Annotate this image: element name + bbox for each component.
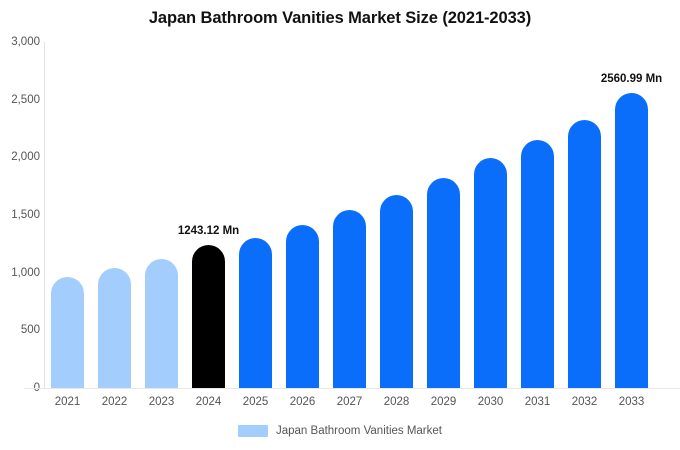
bar-2029[interactable] bbox=[427, 178, 460, 388]
legend-label-japan-bathroom-vanities-market: Japan Bathroom Vanities Market bbox=[276, 425, 442, 437]
chart-title: Japan Bathroom Vanities Market Size (202… bbox=[0, 9, 680, 28]
y-axis: 3,0002,5002,0001,5001,0005000 bbox=[0, 0, 40, 450]
y-axis-tick-label: 2,000 bbox=[4, 151, 40, 163]
y-axis-tick-label: 1,500 bbox=[4, 209, 40, 221]
bar-2026[interactable] bbox=[286, 225, 319, 388]
bar-group-2025[interactable] bbox=[239, 42, 272, 388]
x-axis-tick-label-2032: 2032 bbox=[560, 396, 610, 408]
x-axis-tick-label-2029: 2029 bbox=[419, 396, 469, 408]
bar-2031[interactable] bbox=[521, 140, 554, 388]
bar-value-label-2033: 2560.99 Mn bbox=[596, 73, 668, 85]
x-axis-tick-label-2030: 2030 bbox=[466, 396, 516, 408]
x-axis-tick-label-2033: 2033 bbox=[607, 396, 657, 408]
bar-group-2026[interactable] bbox=[286, 42, 319, 388]
bar-chart: Japan Bathroom Vanities Market Size (202… bbox=[0, 0, 680, 450]
bar-2025[interactable] bbox=[239, 238, 272, 388]
x-axis-tick-label-2021: 2021 bbox=[43, 396, 93, 408]
bar-2032[interactable] bbox=[568, 120, 601, 388]
y-axis-tick-label: 2,500 bbox=[4, 94, 40, 106]
x-axis-tick-label-2022: 2022 bbox=[90, 396, 140, 408]
x-axis-tick-label-2028: 2028 bbox=[372, 396, 422, 408]
plot-area bbox=[44, 42, 680, 388]
bar-group-2032[interactable] bbox=[568, 42, 601, 388]
bar-group-2028[interactable] bbox=[380, 42, 413, 388]
bar-group-2033[interactable] bbox=[615, 42, 648, 388]
x-axis-tick-label-2025: 2025 bbox=[231, 396, 281, 408]
bar-group-2027[interactable] bbox=[333, 42, 366, 388]
bar-2021[interactable] bbox=[51, 277, 84, 388]
legend-swatch-japan-bathroom-vanities-market bbox=[238, 425, 268, 437]
bar-group-2030[interactable] bbox=[474, 42, 507, 388]
bar-2024[interactable] bbox=[192, 245, 225, 388]
bar-2023[interactable] bbox=[145, 259, 178, 388]
bar-group-2022[interactable] bbox=[98, 42, 131, 388]
bar-2028[interactable] bbox=[380, 195, 413, 388]
x-axis-line bbox=[24, 388, 680, 389]
y-axis-tick-label: 3,000 bbox=[4, 36, 40, 48]
bar-value-label-2024: 1243.12 Mn bbox=[173, 225, 245, 237]
bar-2033[interactable] bbox=[615, 93, 648, 388]
bar-group-2024[interactable] bbox=[192, 42, 225, 388]
bar-2030[interactable] bbox=[474, 158, 507, 388]
bar-2027[interactable] bbox=[333, 210, 366, 388]
x-axis-tick-label-2024: 2024 bbox=[184, 396, 234, 408]
bar-group-2023[interactable] bbox=[145, 42, 178, 388]
x-axis-tick-label-2023: 2023 bbox=[137, 396, 187, 408]
x-axis-tick-label-2027: 2027 bbox=[325, 396, 375, 408]
chart-legend: Japan Bathroom Vanities Market bbox=[0, 425, 680, 437]
y-axis-tick-label: 500 bbox=[4, 324, 40, 336]
bar-group-2021[interactable] bbox=[51, 42, 84, 388]
x-axis-tick-label-2031: 2031 bbox=[513, 396, 563, 408]
bar-group-2031[interactable] bbox=[521, 42, 554, 388]
bar-group-2029[interactable] bbox=[427, 42, 460, 388]
bar-2022[interactable] bbox=[98, 268, 131, 388]
x-axis-tick-label-2026: 2026 bbox=[278, 396, 328, 408]
y-axis-tick-label: 1,000 bbox=[4, 267, 40, 279]
